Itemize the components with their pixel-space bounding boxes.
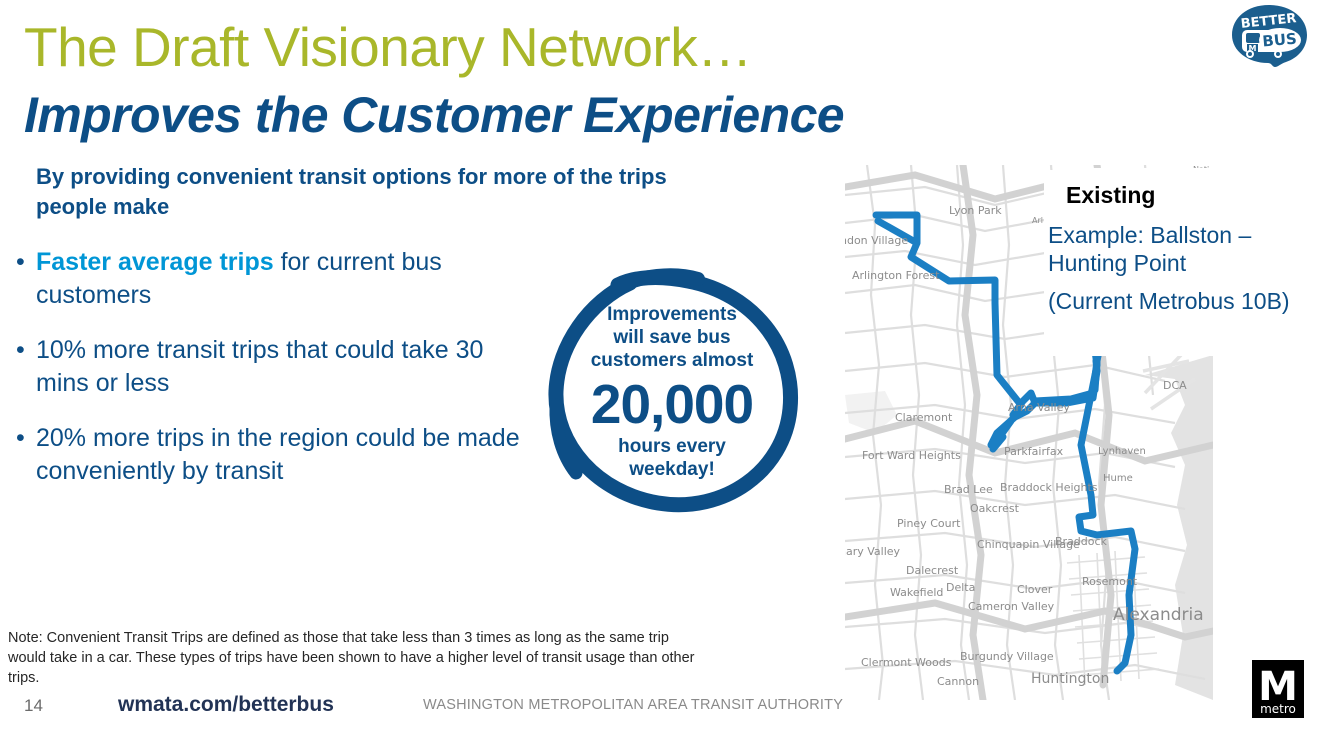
list-item: Faster average trips for current bus cus… <box>12 246 522 312</box>
better-bus-logo-icon: BETTER M BUS <box>1228 4 1310 68</box>
metro-logo: M metro <box>1252 660 1308 722</box>
page-title-line-2: Improves the Customer Experience <box>24 86 844 144</box>
bullet-text: 20% more trips in the region could be ma… <box>36 424 520 485</box>
bullet-highlight: Faster average trips <box>36 248 274 276</box>
map-caption-panel: Existing Example: Ballston – Hunting Poi… <box>1044 170 1317 335</box>
map-caption-route: (Current Metrobus 10B) <box>1048 287 1317 315</box>
stat-lead-1: Improvements <box>574 303 770 326</box>
bullet-text: 10% more transit trips that could take 3… <box>36 336 483 397</box>
page-number: 14 <box>24 696 43 716</box>
stat-lead-3: customers almost <box>574 349 770 372</box>
subheading: By providing convenient transit options … <box>36 162 736 222</box>
list-item: 10% more transit trips that could take 3… <box>12 334 522 400</box>
metro-wordmark: metro <box>1260 702 1296 716</box>
stat-big-number: 20,000 <box>574 375 770 433</box>
stat-text-block: Improvements will save bus customers alm… <box>574 303 770 481</box>
footer-url[interactable]: wmata.com/betterbus <box>118 693 334 717</box>
stat-lead-2: will save bus <box>574 326 770 349</box>
map-caption-example: Example: Ballston – Hunting Point <box>1048 221 1317 277</box>
metro-logo-icon: M metro <box>1252 660 1308 722</box>
slide-root: The Draft Visionary Network… Improves th… <box>0 0 1317 730</box>
footnote: Note: Convenient Transit Trips are defin… <box>8 628 708 688</box>
existing-label: Existing <box>1066 182 1317 209</box>
stat-circle-callout: Improvements will save bus customers alm… <box>538 255 806 517</box>
footer-agency-name: WASHINGTON METROPOLITAN AREA TRANSIT AUT… <box>423 697 843 713</box>
better-bus-bottom-text: BUS <box>1262 30 1298 51</box>
bullet-list: Faster average trips for current bus cus… <box>12 246 522 510</box>
list-item: 20% more trips in the region could be ma… <box>12 422 522 488</box>
page-title-line-1: The Draft Visionary Network… <box>24 16 752 78</box>
better-bus-logo: BETTER M BUS <box>1228 4 1310 68</box>
stat-tail-2: weekday! <box>574 458 770 481</box>
stat-tail-1: hours every <box>574 435 770 458</box>
